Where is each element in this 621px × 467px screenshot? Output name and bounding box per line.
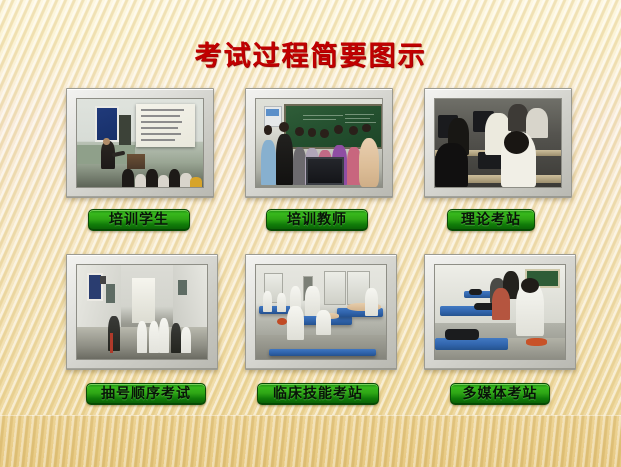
photo-inner-3	[434, 98, 562, 188]
photo-image-draw-lots-exam	[77, 265, 207, 359]
caption-theory-station[interactable]: 理论考站	[447, 209, 535, 231]
photo-inner-4	[76, 264, 208, 360]
caption-training-teachers[interactable]: 培训教师	[266, 209, 368, 231]
caption-draw-lots-exam[interactable]: 抽号顺序考试	[86, 383, 206, 405]
caption-clinical-skills-station[interactable]: 临床技能考站	[257, 383, 379, 405]
photo-frame-6[interactable]	[424, 254, 576, 370]
photo-inner-6	[434, 264, 566, 360]
photo-frame-2[interactable]	[245, 88, 393, 198]
page-title: 考试过程简要图示	[0, 34, 621, 73]
caption-training-students[interactable]: 培训学生	[88, 209, 190, 231]
photo-image-multimedia-station	[435, 265, 565, 359]
caption-multimedia-station[interactable]: 多媒体考站	[450, 383, 550, 405]
photo-inner-1	[76, 98, 204, 188]
photo-frame-5[interactable]	[245, 254, 397, 370]
cpr-manikin	[359, 138, 379, 187]
photo-image-training-teachers	[256, 99, 382, 187]
photo-frame-3[interactable]	[424, 88, 572, 198]
photo-frame-4[interactable]	[66, 254, 218, 370]
photo-image-training-students	[77, 99, 203, 187]
projector-screen	[136, 104, 195, 146]
bottom-decorative-band	[0, 415, 621, 467]
computer-monitor	[306, 157, 344, 186]
photo-inner-5	[255, 264, 387, 360]
photo-inner-2	[255, 98, 383, 188]
photo-image-clinical-skills-station	[256, 265, 386, 359]
photo-frame-1[interactable]	[66, 88, 214, 198]
slide-canvas: 考试过程简要图示	[0, 0, 621, 467]
photo-image-theory-station	[435, 99, 561, 187]
